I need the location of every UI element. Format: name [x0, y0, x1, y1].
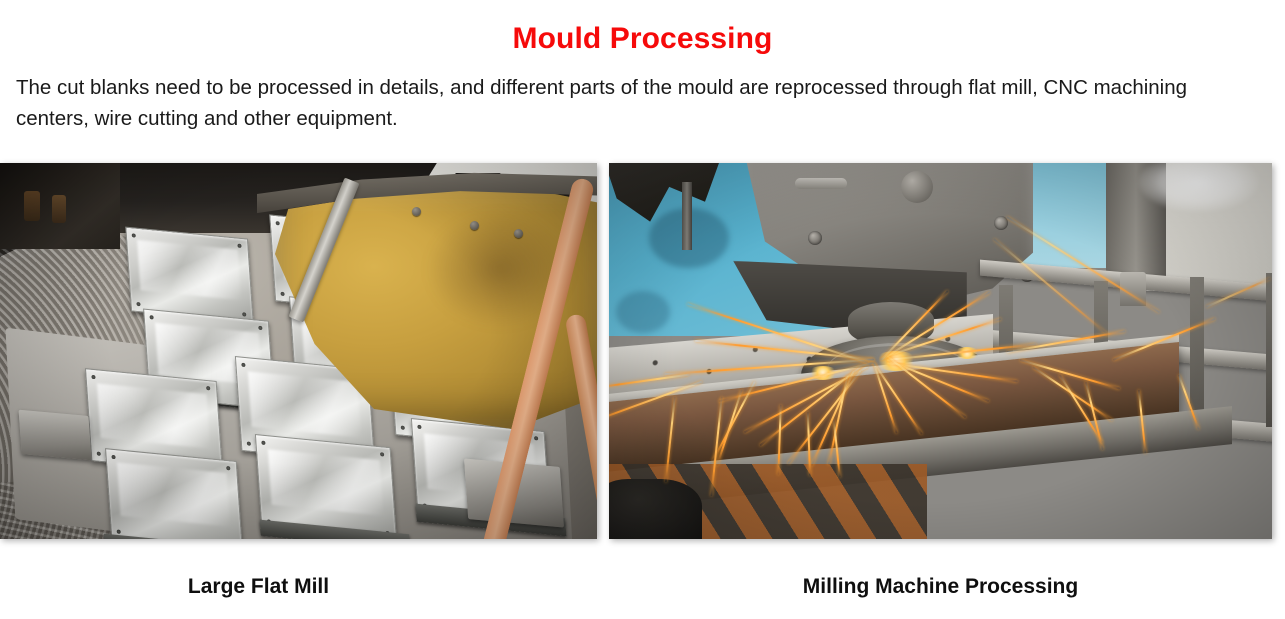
- image-gallery: Large Flat Mill: [0, 163, 1285, 619]
- photo-vignette: [609, 163, 1272, 539]
- mould-processing-page: Mould Processing The cut blanks need to …: [0, 0, 1285, 619]
- intro-paragraph: The cut blanks need to be processed in d…: [0, 54, 1225, 134]
- milling-scene: [609, 163, 1272, 539]
- side-clamp: [19, 410, 92, 461]
- figure-milling-machine-processing: Milling Machine Processing: [609, 163, 1272, 619]
- caption-large-flat-mill: Large Flat Mill: [0, 575, 597, 599]
- caption-milling-machine-processing: Milling Machine Processing: [609, 575, 1272, 599]
- milling-machine-processing-photo[interactable]: [609, 163, 1272, 539]
- page-title: Mould Processing: [0, 0, 1285, 54]
- steel-block: [105, 448, 243, 539]
- flat-mill-scene: [0, 163, 597, 539]
- large-flat-mill-photo[interactable]: [0, 163, 597, 539]
- figure-large-flat-mill: Large Flat Mill: [0, 163, 597, 619]
